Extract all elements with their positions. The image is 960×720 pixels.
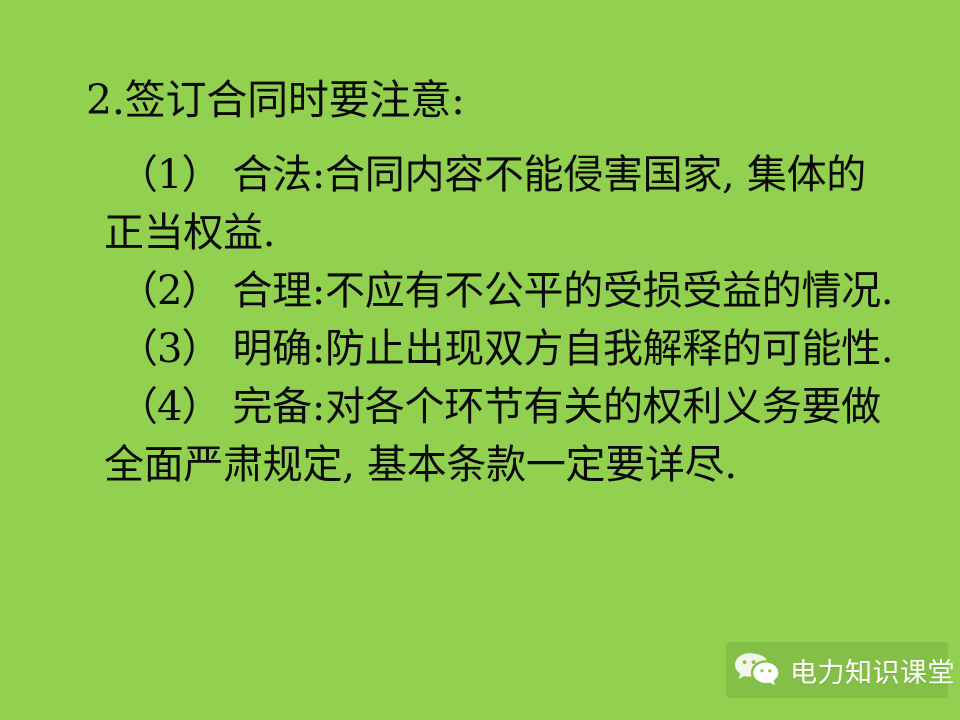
list-item-marker: （4） [118, 384, 220, 430]
list-item-first-line: （2）合理:不应有不公平的受损受益的情况. [104, 262, 954, 320]
list-item-first-line: （3）明确:防止出现双方自我解释的可能性. [104, 320, 954, 378]
list-item-continuation: 正当权益. [104, 204, 954, 262]
watermark-label: 电力知识课堂 [790, 651, 955, 690]
list-item-keyword: 明确 [232, 326, 311, 372]
list-item-separator: : [312, 326, 325, 372]
list-item-separator: : [312, 384, 325, 430]
list-item-text: 对各个环节有关的权利义务要做 [325, 384, 881, 430]
list-item-text: 防止出现双方自我解释的可能性. [325, 326, 893, 372]
watermark: 电力知识课堂 [726, 642, 948, 698]
list-item-text: 不应有不公平的受损受益的情况. [325, 268, 893, 314]
list-item-first-line: （1）合法:合同内容不能侵害国家, 集体的 [104, 146, 954, 204]
page-title: 2.签订合同时要注意: [86, 78, 465, 124]
list-item-separator: : [312, 268, 325, 314]
list-item: （1）合法:合同内容不能侵害国家, 集体的 正当权益. [104, 146, 954, 262]
list-item-continuation: 全面严肃规定, 基本条款一定要详尽. [104, 436, 954, 494]
list-item-marker: （1） [118, 152, 220, 198]
list-item: （4）完备:对各个环节有关的权利义务要做 全面严肃规定, 基本条款一定要详尽. [104, 378, 954, 494]
list-item-separator: : [312, 152, 325, 198]
wechat-icon [734, 650, 780, 690]
slide-canvas: 2.签订合同时要注意: （1）合法:合同内容不能侵害国家, 集体的 正当权益. … [0, 0, 960, 720]
list-item: （3）明确:防止出现双方自我解释的可能性. [104, 320, 954, 378]
list-item-first-line: （4）完备:对各个环节有关的权利义务要做 [104, 378, 954, 436]
list-item: （2）合理:不应有不公平的受损受益的情况. [104, 262, 954, 320]
list-item-marker: （3） [118, 326, 220, 372]
list-item-marker: （2） [118, 268, 220, 314]
list-item-keyword: 完备 [232, 384, 311, 430]
list-item-keyword: 合法 [232, 152, 311, 198]
list-item-keyword: 合理 [232, 268, 311, 314]
list-item-text: 合同内容不能侵害国家, 集体的 [325, 152, 866, 198]
